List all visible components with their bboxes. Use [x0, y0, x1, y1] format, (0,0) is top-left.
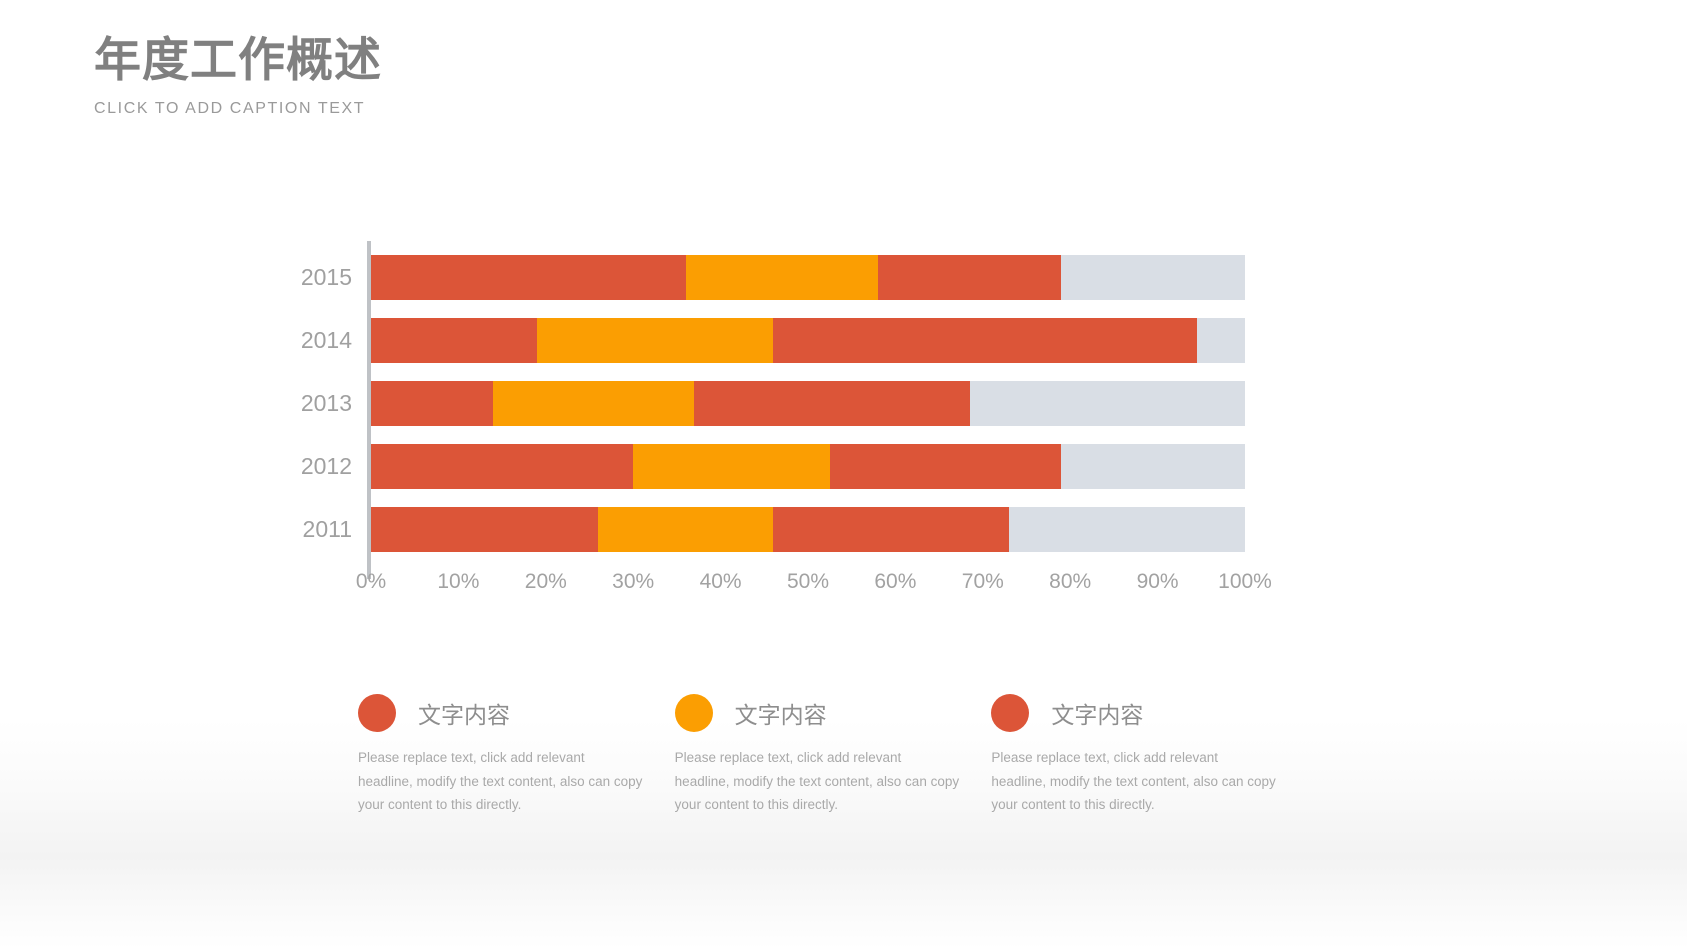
- chart-bar-track: [371, 318, 1245, 363]
- legend-item-body: Please replace text, click add relevant …: [991, 746, 1276, 817]
- legend-item-body: Please replace text, click add relevant …: [358, 746, 643, 817]
- y-axis-tick-label: 2014: [290, 318, 352, 363]
- x-axis-tick-label: 30%: [612, 570, 654, 594]
- legend-item: 文字内容Please replace text, click add relev…: [991, 692, 1308, 817]
- page-subtitle: CLICK TO ADD CAPTION TEXT: [94, 100, 382, 118]
- bar-segment: [878, 255, 1062, 300]
- chart-legend: 文字内容Please replace text, click add relev…: [358, 692, 1308, 817]
- bar-segment: [773, 507, 1009, 552]
- page-title: 年度工作概述: [94, 34, 382, 86]
- bar-segment: [537, 318, 773, 363]
- legend-item-title: 文字内容: [1051, 696, 1143, 730]
- chart-row: 2012: [367, 444, 1300, 489]
- x-axis-tick-label: 10%: [437, 570, 479, 594]
- bar-segment: [493, 381, 694, 426]
- bar-segment: [1197, 318, 1245, 363]
- chart-row: 2013: [367, 381, 1300, 426]
- bar-segment: [830, 444, 1062, 489]
- bar-segment: [1009, 507, 1245, 552]
- slide-header: 年度工作概述 CLICK TO ADD CAPTION TEXT: [94, 34, 382, 118]
- bar-segment: [371, 444, 633, 489]
- chart-bar-track: [371, 255, 1245, 300]
- bar-segment: [1061, 255, 1245, 300]
- slide-canvas: 年度工作概述 CLICK TO ADD CAPTION TEXT 2015201…: [0, 0, 1687, 949]
- bar-segment: [686, 255, 878, 300]
- x-axis-tick-label: 80%: [1049, 570, 1091, 594]
- bar-segment: [371, 507, 598, 552]
- x-axis-tick-label: 70%: [962, 570, 1004, 594]
- bar-segment: [773, 318, 1197, 363]
- bar-segment: [970, 381, 1245, 426]
- x-axis-tick-label: 50%: [787, 570, 829, 594]
- stacked-bar-chart: 20152014201320122011 0%10%20%30%40%50%60…: [290, 255, 1300, 604]
- bar-segment: [371, 255, 686, 300]
- legend-color-dot-icon: [991, 694, 1029, 732]
- bar-segment: [694, 381, 969, 426]
- legend-item-head: 文字内容: [991, 692, 1276, 734]
- chart-row: 2011: [367, 507, 1300, 552]
- x-axis: 0%10%20%30%40%50%60%70%80%90%100%: [371, 570, 1245, 604]
- legend-item-title: 文字内容: [418, 696, 510, 730]
- y-axis-tick-label: 2013: [290, 381, 352, 426]
- legend-item-head: 文字内容: [675, 692, 960, 734]
- chart-bar-track: [371, 381, 1245, 426]
- x-axis-tick-label: 90%: [1137, 570, 1179, 594]
- bar-segment: [371, 381, 493, 426]
- x-axis-tick-label: 20%: [525, 570, 567, 594]
- bar-segment: [598, 507, 773, 552]
- chart-row: 2015: [367, 255, 1300, 300]
- legend-color-dot-icon: [358, 694, 396, 732]
- bar-segment: [633, 444, 830, 489]
- chart-row: 2014: [367, 318, 1300, 363]
- bar-segment: [371, 318, 537, 363]
- x-axis-tick-label: 60%: [874, 570, 916, 594]
- chart-rows-host: 20152014201320122011: [367, 255, 1300, 552]
- legend-item: 文字内容Please replace text, click add relev…: [675, 692, 992, 817]
- bar-segment: [1061, 444, 1245, 489]
- chart-bar-track: [371, 444, 1245, 489]
- legend-color-dot-icon: [675, 694, 713, 732]
- chart-bar-track: [371, 507, 1245, 552]
- y-axis-tick-label: 2011: [290, 507, 352, 552]
- y-axis-tick-label: 2015: [290, 255, 352, 300]
- chart-plot-area: 20152014201320122011: [290, 255, 1300, 552]
- x-axis-tick-label: 100%: [1218, 570, 1272, 594]
- legend-item: 文字内容Please replace text, click add relev…: [358, 692, 675, 817]
- y-axis-tick-label: 2012: [290, 444, 352, 489]
- legend-item-title: 文字内容: [735, 696, 827, 730]
- x-axis-tick-label: 40%: [700, 570, 742, 594]
- legend-item-body: Please replace text, click add relevant …: [675, 746, 960, 817]
- x-axis-tick-label: 0%: [356, 570, 386, 594]
- legend-item-head: 文字内容: [358, 692, 643, 734]
